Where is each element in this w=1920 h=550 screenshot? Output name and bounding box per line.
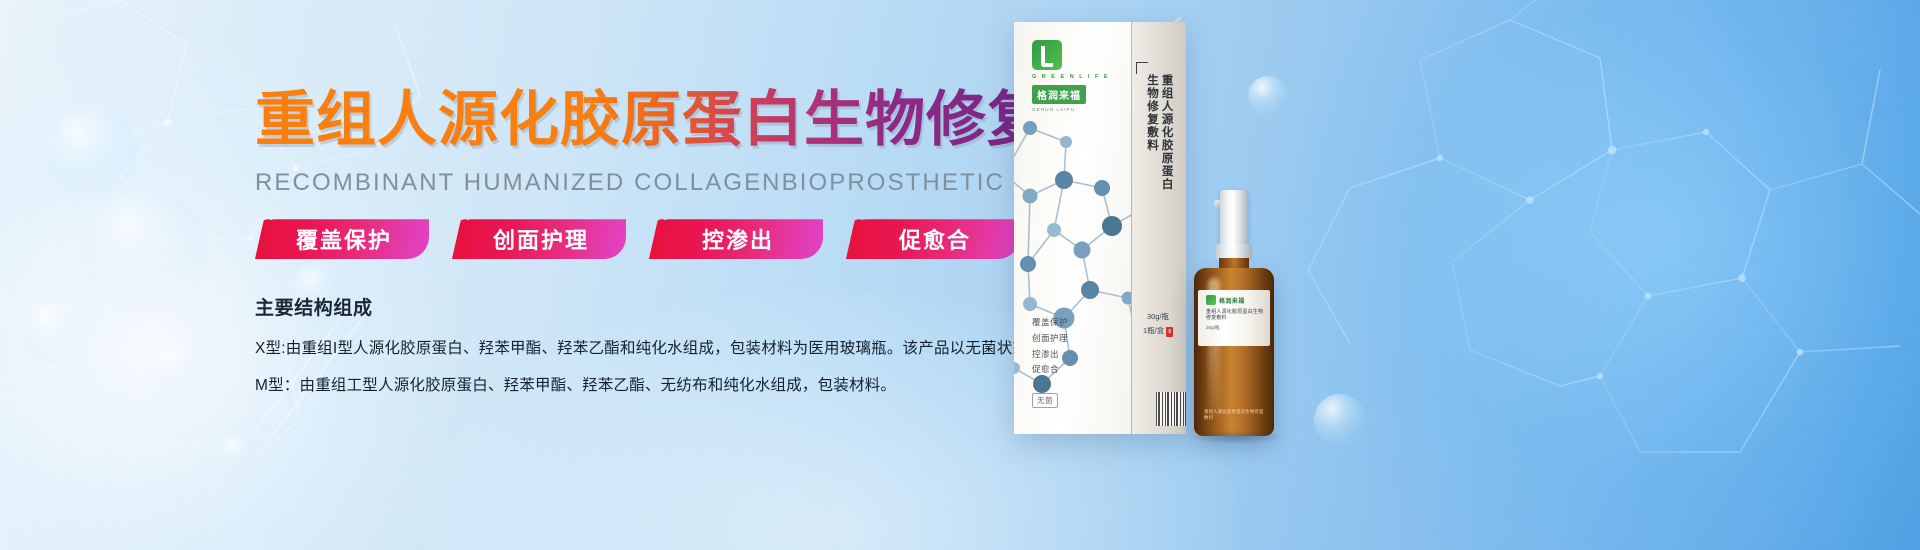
glow-right: [1280, 0, 1920, 550]
composition-paragraph-x-type: X型:由重组I型人源化胶原蛋白、羟苯甲酯、羟苯乙酯和纯化水组成，包装材料为医用玻…: [255, 337, 1015, 361]
product-carton-box: G R E E N L I F E 格润来福 GERUN LAIFU: [1014, 22, 1186, 434]
feature-tag-exudate-control[interactable]: 控渗出: [649, 219, 823, 259]
bottle-label-brand: 格润来福: [1206, 295, 1264, 305]
carton-brand-logo: G R E E N L I F E 格润来福 GERUN LAIFU: [1032, 40, 1124, 112]
brand-english-name: G R E E N L I F E: [1032, 74, 1124, 80]
carton-spec-block: 30g/瓶 1瓶/盒Ⅱ: [1138, 310, 1178, 339]
carton-feature-item: 覆盖保护: [1032, 315, 1068, 331]
brand-chinese-name: 格润来福: [1032, 85, 1086, 104]
brand-pinyin: GERUN LAIFU: [1032, 107, 1124, 112]
bottle-shadow: [1188, 430, 1284, 444]
carton-spine-face: 生物修复敷料 重组人源化胶原蛋白 30g/瓶 1瓶/盒Ⅱ: [1131, 22, 1186, 434]
feature-tag-label: 创面护理: [493, 223, 589, 255]
carton-feature-item: 创面护理: [1032, 331, 1068, 347]
leaf-logo-icon: [1206, 295, 1216, 305]
feature-tag-coverage[interactable]: 覆盖保护: [255, 219, 429, 259]
leaf-logo-icon: [1032, 40, 1062, 70]
carton-front-face: G R E E N L I F E 格润来福 GERUN LAIFU: [1014, 22, 1132, 434]
spec-count-row: 1瓶/盒Ⅱ: [1138, 324, 1178, 338]
banner-content: 重组人源化胶原蛋白生物修复敷料 RECOMBINANT HUMANIZED CO…: [255, 86, 1015, 398]
feature-tag-label: 覆盖保护: [296, 223, 392, 255]
bottle-pump-cap: [1220, 190, 1248, 246]
feature-tag-wound-care[interactable]: 创面护理: [452, 219, 626, 259]
feature-tag-label: 控渗出: [702, 223, 774, 255]
bottle-back-text: 重组人源化胶原蛋白生物修复敷料: [1204, 409, 1264, 422]
carton-barcode: [1156, 392, 1186, 426]
carton-sterile-badge: 无菌: [1032, 393, 1058, 408]
spine-title-line-2: 生物修复敷料: [1145, 74, 1158, 191]
page-subtitle: RECOMBINANT HUMANIZED COLLAGENBIOPROSTHE…: [255, 169, 1015, 197]
bottle-label: 格润来福 重组人源化胶原蛋白生物修复敷料 30g/瓶: [1198, 290, 1270, 346]
corner-bracket-icon: [1136, 62, 1148, 74]
feature-tag-row: 覆盖保护 创面护理 控渗出 促愈合: [255, 219, 1015, 259]
section-heading-composition: 主要结构组成: [255, 293, 1015, 320]
product-spray-bottle: 格润来福 重组人源化胶原蛋白生物修复敷料 30g/瓶 重组人源化胶原蛋白生物修复…: [1186, 190, 1294, 440]
feature-tag-healing[interactable]: 促愈合: [846, 219, 1020, 259]
product-banner: 重组人源化胶原蛋白生物修复敷料 RECOMBINANT HUMANIZED CO…: [0, 0, 1920, 550]
carton-feature-list: 覆盖保护 创面护理 控渗出 促愈合: [1032, 315, 1068, 378]
composition-paragraph-m-type: M型：由重组工型人源化胶原蛋白、羟苯甲酯、羟苯乙酯、无纺布和纯化水组成，包装材料…: [255, 374, 1015, 398]
spec-class-badge: Ⅱ: [1166, 327, 1173, 337]
carton-spine-title: 生物修复敷料 重组人源化胶原蛋白: [1132, 74, 1186, 191]
spec-weight: 30g/瓶: [1138, 310, 1178, 324]
spec-count: 1瓶/盒: [1143, 326, 1164, 335]
bottle-brand-name: 格润来福: [1219, 296, 1245, 305]
feature-tag-label: 促愈合: [899, 223, 971, 255]
carton-feature-item: 控渗出: [1032, 347, 1068, 363]
spine-title-line-1: 重组人源化胶原蛋白: [1160, 74, 1173, 191]
page-title: 重组人源化胶原蛋白生物修复敷料: [255, 86, 1015, 153]
carton-feature-item: 促愈合: [1032, 362, 1068, 378]
bottle-body: 格润来福 重组人源化胶原蛋白生物修复敷料 30g/瓶 重组人源化胶原蛋白生物修复…: [1194, 268, 1274, 436]
bottle-spec: 30g/瓶: [1206, 325, 1264, 331]
bottle-product-title: 重组人源化胶原蛋白生物修复敷料: [1206, 309, 1264, 322]
